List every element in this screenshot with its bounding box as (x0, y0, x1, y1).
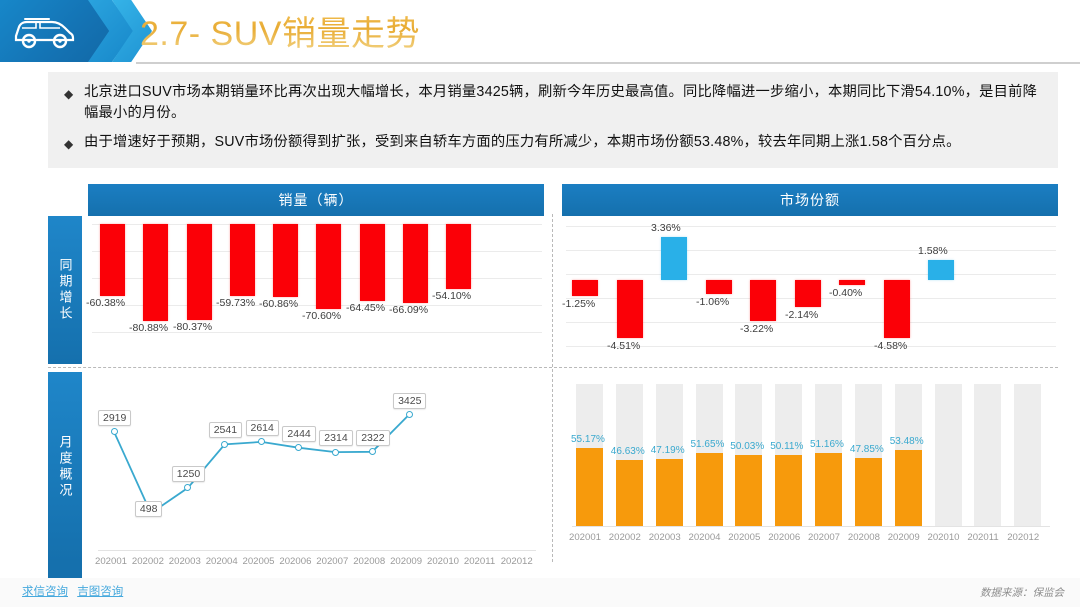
line-data-point (369, 448, 376, 455)
gridline (566, 250, 1056, 251)
x-axis-line (572, 526, 1050, 527)
bullet-marker-icon: ◆ (64, 88, 78, 100)
summary-bullet-2: ◆ 由于增速好于预期，SUV市场份额得到扩张，受到来自轿车方面的压力有所减少，本… (64, 132, 1044, 153)
chart-sales-yoy-growth: -60.38%-80.88%-80.37%-59.73%-60.86%-70.6… (92, 218, 542, 364)
bar-value-label: -1.25% (562, 298, 595, 310)
bar-share (576, 448, 603, 526)
slide-header: 2.7- SUV销量走势 (0, 0, 1080, 66)
line-value-callout: 2541 (209, 422, 242, 438)
line-value-callout: 2314 (319, 430, 352, 446)
bar-negative (750, 280, 776, 321)
x-axis-tick-label: 202011 (464, 556, 495, 567)
x-axis-tick-label: 202008 (848, 532, 880, 543)
bar-value-label: -0.40% (829, 287, 862, 299)
bar-negative (273, 224, 298, 297)
page-title: 2.7- SUV销量走势 (140, 6, 420, 55)
x-axis-tick-label: 202004 (689, 532, 721, 543)
bar-value-label: 47.19% (651, 445, 685, 456)
bar-value-label: -4.51% (607, 340, 640, 352)
bar-negative (884, 280, 910, 338)
vertical-divider (552, 214, 553, 562)
x-axis-tick-label: 202010 (427, 556, 459, 567)
bar-share (895, 450, 922, 526)
x-axis-tick-label: 202009 (390, 556, 422, 567)
bar-background-track (1014, 384, 1041, 526)
data-source-note: 数据来源：保监会 (980, 585, 1064, 600)
x-axis-tick-label: 202011 (967, 532, 998, 543)
sales-line-path (92, 376, 542, 562)
bar-share (855, 458, 882, 526)
bar-share (616, 460, 643, 526)
bar-value-label: -70.60% (302, 310, 341, 322)
x-axis-tick-label: 202009 (888, 532, 920, 543)
x-axis-tick-label: 202005 (243, 556, 275, 567)
footer-link-2[interactable]: 吉图咨询 (77, 586, 123, 598)
x-axis-tick-label: 202004 (206, 556, 238, 567)
bar-value-label: 51.65% (691, 439, 725, 450)
footer-band (0, 578, 1080, 607)
bar-value-label: 53.48% (890, 436, 924, 447)
bar-value-label: -4.58% (874, 340, 907, 352)
panel-header-sales: 销量（辆） (88, 184, 544, 216)
bar-background-track (974, 384, 1001, 526)
bar-negative (572, 280, 598, 296)
x-axis-tick-label: 202006 (768, 532, 800, 543)
line-value-callout: 2614 (246, 420, 279, 436)
row-label-yoy-growth: 同期增长 (48, 216, 82, 364)
x-axis-tick-label: 202003 (169, 556, 201, 567)
bullet-marker-icon: ◆ (64, 138, 78, 150)
x-axis-tick-label: 202007 (316, 556, 348, 567)
bar-value-label: 51.16% (810, 439, 844, 450)
x-axis-tick-label: 202010 (928, 532, 960, 543)
x-axis-tick-label: 202005 (728, 532, 760, 543)
bar-value-label: -64.45% (346, 302, 385, 314)
bar-value-label: -54.10% (432, 290, 471, 302)
footer-link-1[interactable]: 求信咨询 (22, 586, 68, 598)
bar-value-label: 50.11% (770, 441, 803, 452)
bar-negative (187, 224, 212, 320)
bar-positive (661, 237, 687, 280)
footer-links[interactable]: 求信咨询 吉图咨询 (22, 583, 129, 599)
x-axis-tick-label: 202003 (649, 532, 681, 543)
gridline (566, 274, 1056, 275)
bar-value-label: -80.37% (173, 321, 212, 333)
x-axis-tick-label: 202012 (1007, 532, 1039, 543)
x-axis-line (98, 550, 536, 551)
horizontal-divider (48, 367, 1058, 368)
x-axis-tick-label: 202001 (569, 532, 601, 543)
bar-value-label: -60.38% (86, 297, 125, 309)
bar-negative (617, 280, 643, 338)
bar-value-label: 3.36% (651, 222, 681, 234)
row-label-monthly-text: 月度概况 (57, 435, 74, 499)
footer-accent-block (48, 560, 82, 578)
x-axis-tick-label: 202002 (132, 556, 164, 567)
bar-negative (316, 224, 341, 309)
chart-share-yoy-change: -1.25%-4.51%3.36%-1.06%-3.22%-2.14%-0.40… (566, 218, 1056, 364)
summary-text-2: 由于增速好于预期，SUV市场份额得到扩张，受到来自轿车方面的压力有所减少，本期市… (84, 132, 961, 153)
bar-value-label: -3.22% (740, 323, 773, 335)
chart-monthly-share: 55.17%20200146.63%20200247.19%20200351.6… (566, 376, 1056, 562)
bar-negative (446, 224, 471, 289)
bar-negative (360, 224, 385, 301)
line-value-callout: 2322 (356, 430, 389, 446)
line-data-point (111, 428, 118, 435)
suv-car-icon (12, 12, 76, 50)
bar-share (815, 453, 842, 526)
line-value-callout: 498 (135, 501, 163, 517)
bar-negative (795, 280, 821, 307)
bar-negative (100, 224, 125, 296)
x-axis-tick-label: 202002 (609, 532, 641, 543)
line-data-point (406, 411, 413, 418)
bar-positive (928, 260, 954, 280)
bar-value-label: -2.14% (785, 309, 818, 321)
line-value-callout: 2444 (282, 426, 315, 442)
bar-value-label: -80.88% (129, 322, 168, 334)
x-axis-tick-label: 202001 (95, 556, 127, 567)
x-axis-tick-label: 202012 (501, 556, 533, 567)
bar-value-label: 50.03% (730, 441, 764, 452)
bar-value-label: -66.09% (389, 304, 428, 316)
row-label-monthly: 月度概况 (48, 372, 82, 562)
bar-value-label: 46.63% (611, 446, 645, 457)
row-label-yoy-growth-text: 同期增长 (57, 258, 74, 322)
line-value-callout: 3425 (393, 393, 426, 409)
bar-value-label: 47.85% (850, 444, 884, 455)
bar-negative (403, 224, 428, 303)
bar-negative (706, 280, 732, 294)
line-data-point (332, 449, 339, 456)
bar-background-track (935, 384, 962, 526)
x-axis-tick-label: 202008 (353, 556, 385, 567)
bar-share (656, 459, 683, 526)
bar-negative (839, 280, 865, 285)
bar-value-label: -60.86% (259, 298, 298, 310)
panel-header-share: 市场份额 (562, 184, 1058, 216)
bar-value-label: -59.73% (216, 297, 255, 309)
bar-negative (143, 224, 168, 321)
x-axis-tick-label: 202006 (279, 556, 311, 567)
bar-negative (230, 224, 255, 296)
bar-value-label: 1.58% (918, 245, 948, 257)
bar-share (735, 455, 762, 526)
header-underline (136, 62, 1080, 64)
summary-bullet-1: ◆ 北京进口SUV市场本期销量环比再次出现大幅增长，本月销量3425辆，刷新今年… (64, 82, 1044, 124)
chart-monthly-sales: 2919498125025412614244423142322342520200… (92, 376, 542, 562)
slide-page: 2.7- SUV销量走势 ◆ 北京进口SUV市场本期销量环比再次出现大幅增长，本… (0, 0, 1080, 607)
gridline (566, 226, 1056, 227)
line-value-callout: 1250 (172, 466, 205, 482)
summary-text-1: 北京进口SUV市场本期销量环比再次出现大幅增长，本月销量3425辆，刷新今年历史… (84, 82, 1044, 124)
bar-share (696, 453, 723, 526)
summary-panel: ◆ 北京进口SUV市场本期销量环比再次出现大幅增长，本月销量3425辆，刷新今年… (48, 72, 1058, 168)
line-value-callout: 2919 (98, 410, 131, 426)
x-axis-tick-label: 202007 (808, 532, 840, 543)
bar-value-label: -1.06% (696, 296, 729, 308)
bar-share (775, 455, 802, 526)
bar-value-label: 55.17% (571, 434, 605, 445)
